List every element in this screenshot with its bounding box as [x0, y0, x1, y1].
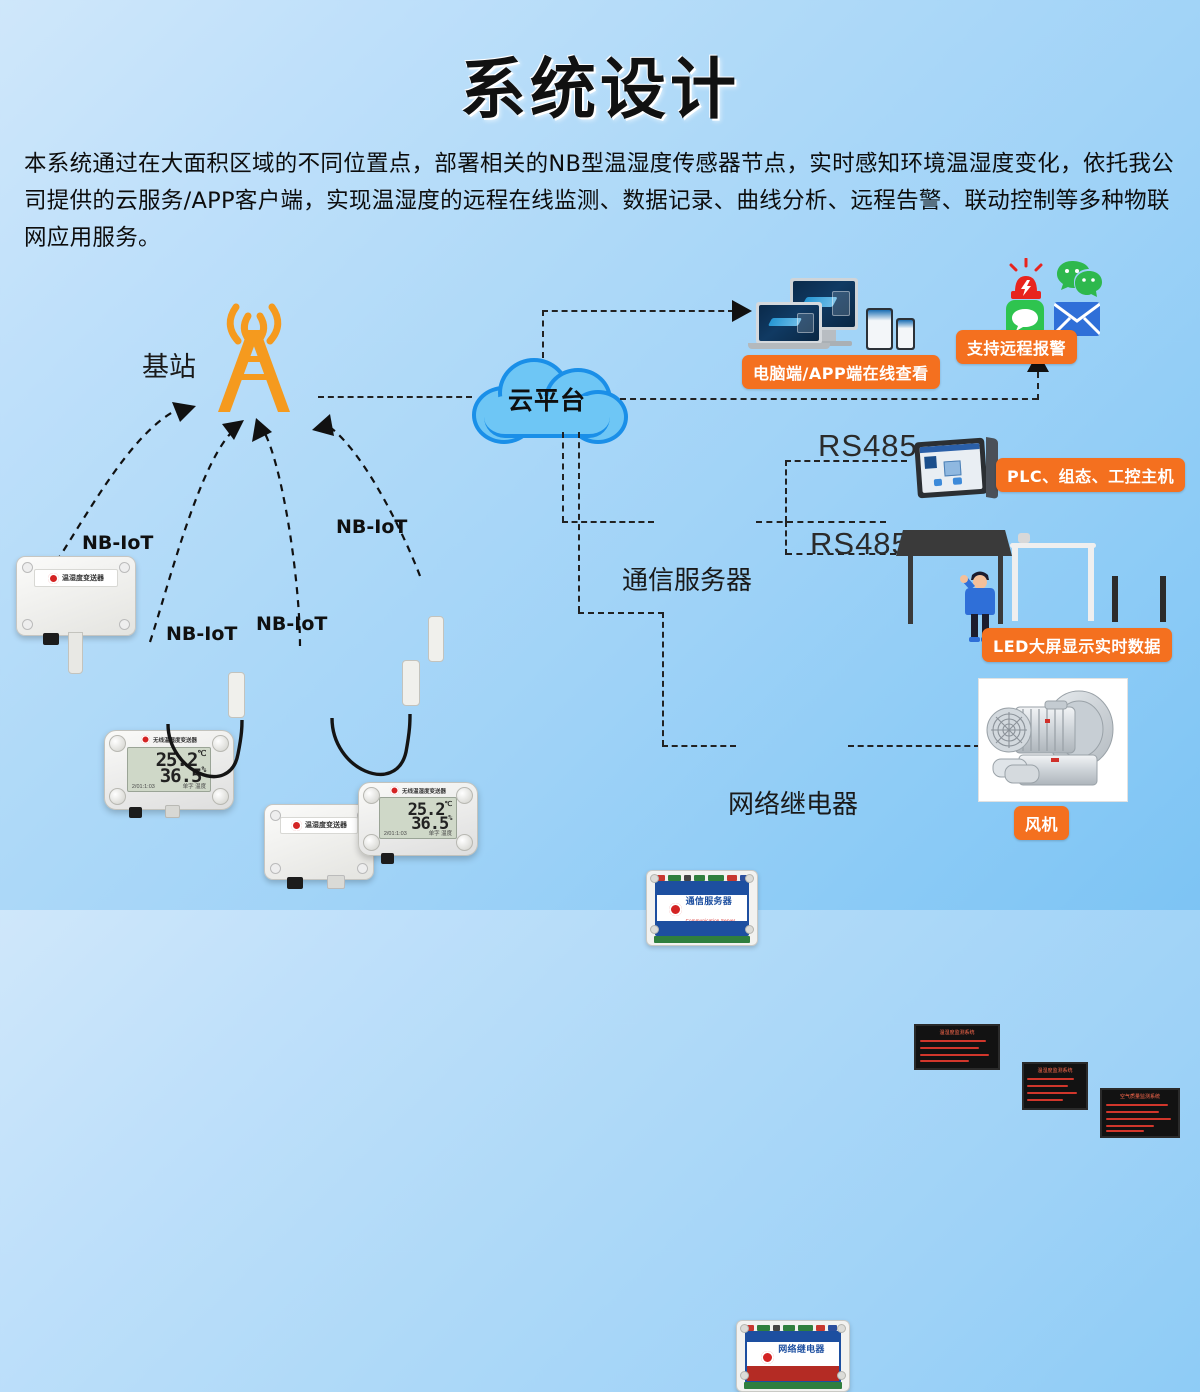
lcd-footer-right: 单字 温度: [429, 829, 453, 837]
link-server-rs485-h: [756, 521, 886, 523]
plc-label: PLC、组态、工控主机: [996, 458, 1185, 492]
wechat-logo: [1056, 258, 1102, 300]
link-cloud-to-pc-v: [542, 310, 544, 358]
sensor-probe-2: [228, 672, 245, 718]
led-leg-2b: [1088, 545, 1094, 621]
fan-label: 风机: [1014, 806, 1069, 840]
nbiot-label-1: NB-IoT: [82, 532, 153, 554]
led-roof-1: [896, 530, 1012, 556]
laptop: [756, 302, 822, 344]
nbiot-label-3: NB-IoT: [256, 613, 327, 635]
sensor-lcd-2: 无线温湿度变送器 25.2℃ 36.5% 2/01:1:03 单字 温度: [358, 782, 478, 856]
cloud-platform[interactable]: 云平台: [472, 352, 622, 438]
brand-logo-icon: [669, 903, 682, 916]
brand-logo-icon: [390, 786, 399, 795]
led-leg-2a: [1012, 545, 1018, 621]
rs485-label-1: RS485: [818, 428, 918, 464]
link-cloud-to-relay-v2: [662, 612, 664, 746]
brand-logo-icon: [48, 573, 59, 584]
laptop-screen: [759, 305, 819, 341]
link-server-rs485-up: [785, 460, 787, 522]
sensor-nameplate: 温湿度变送器: [34, 569, 119, 587]
sensor-name-3: 温湿度变送器: [305, 820, 347, 830]
sensor-probe-3: [402, 660, 420, 706]
link-cloud-to-alarm-h: [620, 398, 1038, 400]
led-board-title-1: 温湿度监测系统: [916, 1029, 998, 1036]
brand-logo-icon: [761, 1351, 774, 1364]
led-camera-2: [1018, 533, 1030, 543]
sensor-nameplate: 温湿度变送器: [280, 817, 358, 834]
led-leg-3a: [1112, 576, 1118, 622]
smartphone: [896, 318, 915, 350]
tablet: [866, 308, 893, 350]
sensor-name-4: 无线温湿度变送器: [402, 787, 446, 795]
relay-brand: 网络继电器 Network Relay: [747, 1351, 839, 1363]
relay-faceplate: 网络继电器 Network Relay: [745, 1331, 841, 1383]
link-relay-to-fan: [848, 745, 980, 747]
laptop-base: [748, 343, 830, 349]
wechat-icon: [1056, 258, 1102, 300]
server-brand: 通信服务器 Communication Server: [657, 903, 748, 916]
link-cloud-to-relay-h2: [662, 745, 736, 747]
sensor-name-1: 温湿度变送器: [62, 573, 104, 583]
brand-logo-icon: [291, 820, 302, 831]
link-cloud-to-alarm-v: [1037, 372, 1039, 400]
server-indicator-leds: [656, 874, 748, 881]
rs485-label-2: RS485: [810, 526, 910, 562]
arrow-to-pc: [732, 300, 752, 322]
communication-server: 通信服务器 Communication Server: [646, 870, 758, 946]
link-cloud-to-server-v: [562, 432, 564, 522]
cloud-platform-label: 云平台: [472, 352, 622, 438]
link-server-rs485-down: [785, 521, 787, 555]
network-relay-label: 网络继电器: [728, 784, 858, 821]
page-title: 系统设计: [0, 36, 1200, 132]
link-cloud-to-pc-h: [542, 310, 734, 312]
led-board-2: 温湿度监测系统: [1022, 1062, 1088, 1110]
system-design-diagram: 系统设计 本系统通过在大面积区域的不同位置点，部署相关的NB型温湿度传感器节点，…: [0, 0, 1200, 910]
lcd-footer-left: 2/01:1:03: [384, 831, 407, 837]
relay-indicator-leds: [746, 1324, 840, 1331]
sensor-box-1: 温湿度变送器: [16, 556, 136, 636]
led-leg-1b: [998, 556, 1003, 624]
base-station-label: 基站: [142, 345, 196, 384]
server-brand-cn: 通信服务器: [686, 897, 733, 907]
nbiot-label-2: NB-IoT: [166, 623, 237, 645]
hmi-panel: [914, 438, 988, 499]
remote-alarm-label: 支持远程报警: [956, 330, 1077, 364]
led-crossbar-2: [1010, 543, 1096, 548]
led-board-3: 空气质量监测系统: [1100, 1088, 1180, 1138]
lcd-screen: 25.2℃ 36.5% 2/01:1:03 单字 温度: [379, 797, 457, 839]
communication-server-label: 通信服务器: [622, 560, 752, 597]
sensor-probe-1: [68, 632, 83, 674]
link-tower-to-cloud: [318, 396, 472, 398]
link-cloud-to-relay-h1: [578, 612, 664, 614]
intro-paragraph: 本系统通过在大面积区域的不同位置点，部署相关的NB型温湿度传感器节点，实时感知环…: [24, 146, 1176, 257]
alarm-light: [1006, 258, 1046, 302]
lcd-header: 无线温湿度变送器: [378, 787, 458, 796]
hmi-screen: [919, 443, 982, 493]
led-board-title-2: 温湿度监测系统: [1024, 1067, 1086, 1074]
pc-app-label: 电脑端/APP端在线查看: [742, 355, 940, 389]
sensor-probe-4: [428, 616, 444, 662]
server-faceplate: 通信服务器 Communication Server: [655, 881, 750, 936]
network-relay: 网络继电器 Network Relay: [736, 1320, 850, 1392]
led-board-1: 温湿度监测系统: [914, 1024, 1000, 1070]
led-board-title-3: 空气质量监测系统: [1102, 1093, 1178, 1100]
led-leg-1a: [908, 556, 913, 624]
blower-card: [978, 678, 1128, 802]
tablet-screen: [868, 310, 891, 348]
phone-screen: [898, 320, 913, 348]
alarm-light-icon: [1006, 258, 1046, 302]
link-cloud-to-server-h: [562, 521, 654, 523]
led-screen-label: LED大屏显示实时数据: [982, 628, 1172, 662]
blower-fan-icon: [979, 679, 1127, 801]
nbiot-label-4: NB-IoT: [336, 516, 407, 538]
link-cloud-to-relay-v1: [578, 432, 580, 612]
relay-brand-cn: 网络继电器: [778, 1345, 825, 1355]
sensor-cable-1: [120, 720, 260, 810]
led-leg-3b: [1160, 576, 1166, 622]
